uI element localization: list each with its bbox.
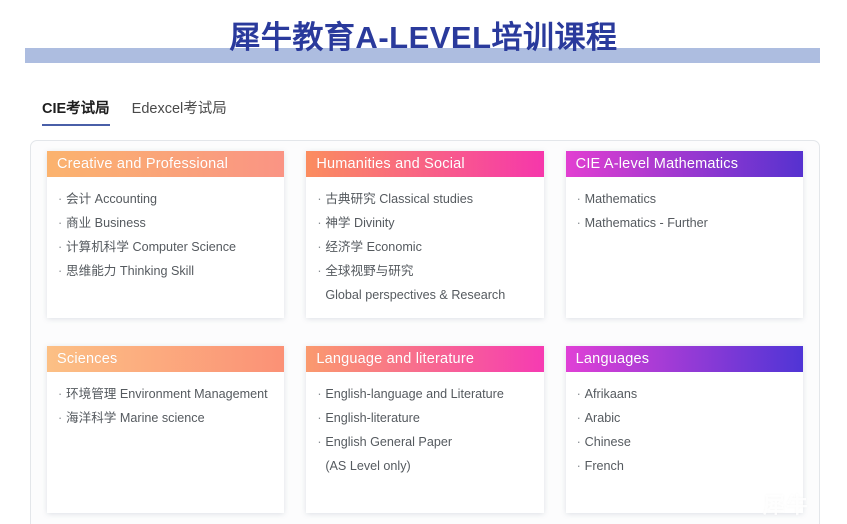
list-item[interactable]: ·English-literature xyxy=(317,406,533,430)
list-item[interactable]: ·English General Paper xyxy=(317,430,533,454)
card-subject-list: ·古典研究 Classical studies ·神学 Divinity ·经济… xyxy=(306,177,543,318)
card-title: Creative and Professional xyxy=(47,151,284,177)
bullet-icon: · xyxy=(58,382,66,406)
bullet-icon: · xyxy=(58,211,66,235)
card-title: Sciences xyxy=(47,346,284,372)
card-subject-list: ·Mathematics ·Mathematics - Further xyxy=(566,177,803,318)
list-item[interactable]: ·海洋科学 Marine science xyxy=(58,406,274,430)
list-item[interactable]: ·全球视野与研究 xyxy=(317,259,533,283)
list-item-label: 会计 Accounting xyxy=(66,187,157,211)
list-item-label: 环境管理 Environment Management xyxy=(66,382,268,406)
bullet-icon: · xyxy=(577,454,585,478)
list-item-label: Global perspectives & Research xyxy=(325,283,505,307)
list-item-label: English-literature xyxy=(325,406,420,430)
list-item[interactable]: ·Mathematics - Further xyxy=(577,211,793,235)
bullet-icon: · xyxy=(317,406,325,430)
list-item[interactable]: ·环境管理 Environment Management xyxy=(58,382,274,406)
course-card[interactable]: Creative and Professional ·会计 Accounting… xyxy=(47,151,284,318)
list-item[interactable]: ·经济学 Economic xyxy=(317,235,533,259)
bullet-icon: · xyxy=(317,382,325,406)
list-item[interactable]: ·English-language and Literature xyxy=(317,382,533,406)
bullet-icon: · xyxy=(317,235,325,259)
list-item-continuation[interactable]: Global perspectives & Research xyxy=(317,283,533,307)
list-item[interactable]: ·Chinese xyxy=(577,430,793,454)
bullet-icon: · xyxy=(577,382,585,406)
list-item[interactable]: ·French xyxy=(577,454,793,478)
exam-board-tabs: CIE考试局 Edexcel考试局 xyxy=(0,94,847,126)
bullet-icon: · xyxy=(577,406,585,430)
list-item[interactable]: ·古典研究 Classical studies xyxy=(317,187,533,211)
list-item-label: 经济学 Economic xyxy=(325,235,422,259)
card-subject-list: ·会计 Accounting ·商业 Business ·计算机科学 Compu… xyxy=(47,177,284,318)
list-item-label: Arabic xyxy=(585,406,621,430)
course-card[interactable]: Sciences ·环境管理 Environment Management ·海… xyxy=(47,346,284,513)
list-item-label: Mathematics xyxy=(585,187,656,211)
page-banner: 犀牛教育A-LEVEL培训课程 xyxy=(0,0,847,72)
card-title: CIE A-level Mathematics xyxy=(566,151,803,177)
bullet-icon: · xyxy=(577,430,585,454)
list-item-label: (AS Level only) xyxy=(325,454,410,478)
tab-edexcel[interactable]: Edexcel考试局 xyxy=(132,97,227,126)
bullet-icon: · xyxy=(317,259,325,283)
tab-cie-label: CIE考试局 xyxy=(42,101,110,117)
list-item-label: English General Paper xyxy=(325,430,452,454)
list-item[interactable]: ·神学 Divinity xyxy=(317,211,533,235)
list-item-label: 海洋科学 Marine science xyxy=(66,406,205,430)
list-item-label: 全球视野与研究 xyxy=(325,259,413,283)
course-card[interactable]: Languages ·Afrikaans ·Arabic ·Chinese ·F… xyxy=(566,346,803,513)
list-item[interactable]: ·商业 Business xyxy=(58,211,274,235)
list-item-label: Chinese xyxy=(585,430,631,454)
card-subject-list: ·Afrikaans ·Arabic ·Chinese ·French xyxy=(566,372,803,513)
list-item-label: 思维能力 Thinking Skill xyxy=(66,259,194,283)
page-title: 犀牛教育A-LEVEL培训课程 xyxy=(0,12,847,57)
list-item-label: 神学 Divinity xyxy=(325,211,394,235)
tab-cie[interactable]: CIE考试局 xyxy=(42,97,110,126)
list-item[interactable]: ·会计 Accounting xyxy=(58,187,274,211)
bullet-icon: · xyxy=(58,406,66,430)
bullet-icon: · xyxy=(58,187,66,211)
bullet-icon: · xyxy=(317,430,325,454)
bullet-icon: · xyxy=(58,259,66,283)
tab-edexcel-label: Edexcel考试局 xyxy=(132,101,227,117)
list-item-label: 商业 Business xyxy=(66,211,146,235)
bullet-icon: · xyxy=(577,187,585,211)
list-item[interactable]: ·Arabic xyxy=(577,406,793,430)
card-subject-list: ·环境管理 Environment Management ·海洋科学 Marin… xyxy=(47,372,284,513)
list-item-label: 计算机科学 Computer Science xyxy=(66,235,236,259)
course-panel: Creative and Professional ·会计 Accounting… xyxy=(30,140,820,524)
list-item[interactable]: ·Afrikaans xyxy=(577,382,793,406)
list-item[interactable]: ·思维能力 Thinking Skill xyxy=(58,259,274,283)
bullet-icon: · xyxy=(317,187,325,211)
card-title: Humanities and Social xyxy=(306,151,543,177)
list-item-label: Afrikaans xyxy=(585,382,638,406)
bullet-icon: · xyxy=(317,211,325,235)
course-card[interactable]: Humanities and Social ·古典研究 Classical st… xyxy=(306,151,543,318)
list-item[interactable]: ·Mathematics xyxy=(577,187,793,211)
list-item-label: English-language and Literature xyxy=(325,382,504,406)
card-title: Languages xyxy=(566,346,803,372)
course-card-grid: Creative and Professional ·会计 Accounting… xyxy=(39,151,811,513)
list-item-label: French xyxy=(585,454,624,478)
course-card[interactable]: CIE A-level Mathematics ·Mathematics ·Ma… xyxy=(566,151,803,318)
list-item[interactable]: ·计算机科学 Computer Science xyxy=(58,235,274,259)
course-card[interactable]: Language and literature ·English-languag… xyxy=(306,346,543,513)
list-item-label: 古典研究 Classical studies xyxy=(325,187,473,211)
card-subject-list: ·English-language and Literature ·Englis… xyxy=(306,372,543,513)
bullet-icon: · xyxy=(577,211,585,235)
bullet-icon: · xyxy=(58,235,66,259)
list-item-continuation[interactable]: (AS Level only) xyxy=(317,454,533,478)
card-title: Language and literature xyxy=(306,346,543,372)
list-item-label: Mathematics - Further xyxy=(585,211,708,235)
